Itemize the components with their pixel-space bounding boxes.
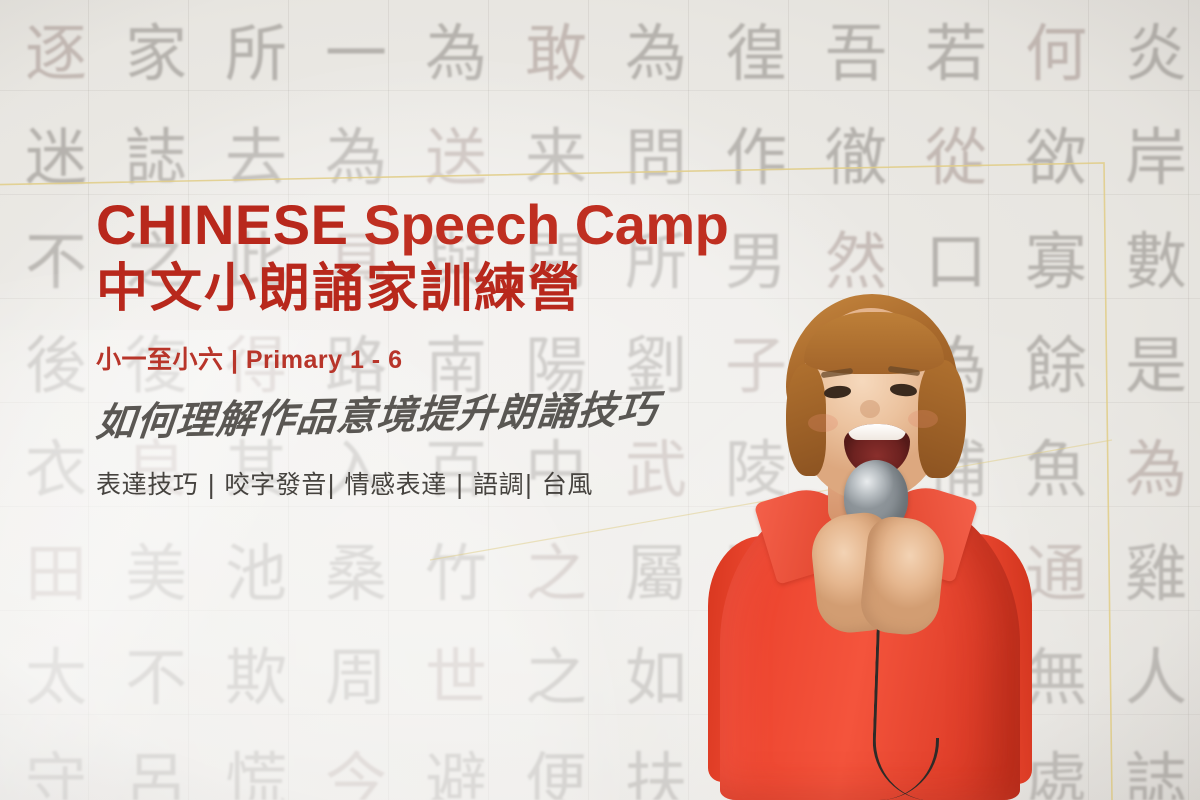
teeth [848,424,906,440]
headline-block: CHINESE Speech Camp 中文小朗誦家訓練營 小一至小六 | Pr… [96,196,796,501]
promo-banner: 逐家所一為敢為徨吾若何炎迷誌去為送来問作徹從欲岸不之此具與問所男然口寡數後復得路… [0,0,1200,800]
cheek-right [908,410,938,428]
skills-tagline: 表達技巧 | 咬字發音| 情感表達 | 語調| 台風 [96,465,796,501]
english-title: CHINESE Speech Camp [96,196,796,254]
calligraphy-description-line: 如何理解作品意境提升朗誦技巧 [94,385,800,445]
grade-range-subtitle: 小一至小六 | Primary 1 - 6 [96,340,796,376]
chinese-title: 中文小朗誦家訓練營 [96,260,796,318]
english-title-light: Speech Camp [364,193,729,256]
english-title-strong: CHINESE [96,193,348,256]
nose [860,400,880,418]
cheek-left [808,414,838,432]
